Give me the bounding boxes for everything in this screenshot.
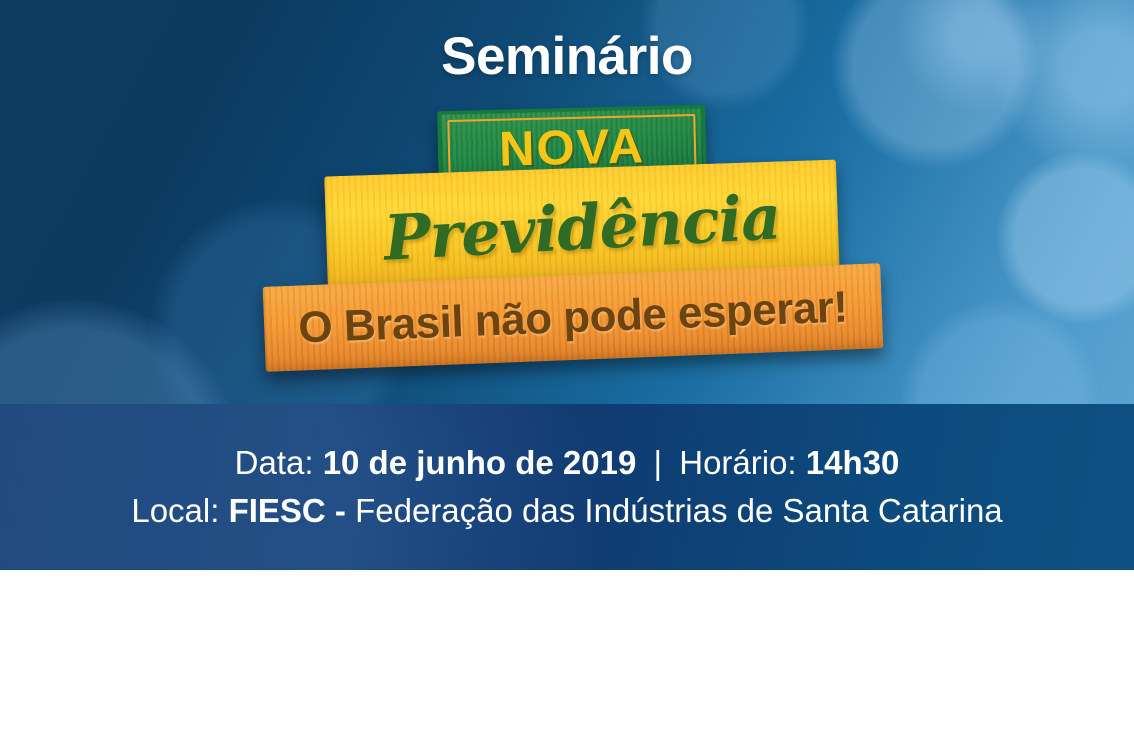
info-separator: |	[645, 444, 670, 481]
date-label: Data:	[235, 444, 314, 481]
event-datetime-line: Data: 10 de junho de 2019 | Horário: 14h…	[235, 441, 900, 485]
event-poster: Seminário NOVA Previdência O Brasil não …	[0, 0, 1134, 756]
wooden-sign-stack: NOVA Previdência O Brasil não pode esper…	[0, 108, 1134, 393]
event-location-line: Local: FIESC - Federação das Indústrias …	[131, 489, 1002, 533]
time-label: Horário:	[679, 444, 796, 481]
page-title: Seminário	[0, 26, 1134, 87]
date-value: 10 de junho de 2019	[323, 444, 637, 481]
place-full-name: Federação das Indústrias de Santa Catari…	[355, 492, 1003, 529]
place-label: Local:	[131, 492, 219, 529]
place-acronym: FIESC -	[229, 492, 346, 529]
sponsor-footer: Conselho das Federações Empresariais de …	[0, 570, 1134, 756]
time-value: 14h30	[806, 444, 900, 481]
event-info-band: Data: 10 de junho de 2019 | Horário: 14h…	[0, 404, 1134, 570]
